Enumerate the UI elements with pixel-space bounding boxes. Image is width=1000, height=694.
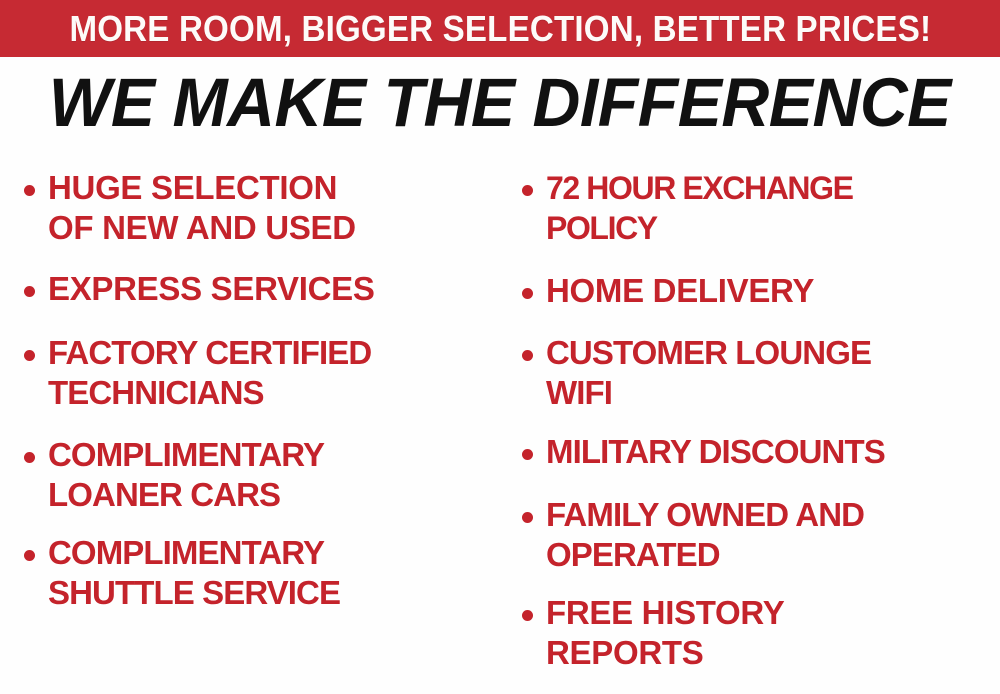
list-item-label: COMPLIMENTARY SHUTTLE SERVICE — [48, 533, 340, 613]
list-item-label: HUGE SELECTION OF NEW AND USED — [48, 168, 356, 248]
list-item-label: COMPLIMENTARY LOANER CARS — [48, 435, 324, 515]
bullet-dot-icon — [522, 610, 533, 621]
bullet-dot-icon — [522, 449, 533, 460]
list-item: EXPRESS SERVICES — [24, 269, 498, 309]
list-item-label: FREE HISTORY REPORTS — [546, 593, 784, 673]
list-item-label: FACTORY CERTIFIED TECHNICIANS — [48, 333, 371, 413]
main-headline: WE MAKE THE DIFFERENCE — [0, 68, 1000, 138]
features-columns: HUGE SELECTION OF NEW AND USED EXPRESS S… — [0, 160, 1000, 694]
list-item: FREE HISTORY REPORTS — [522, 593, 1000, 673]
list-item: 72 HOUR EXCHANGE POLICY — [522, 168, 1000, 248]
list-item: FACTORY CERTIFIED TECHNICIANS — [24, 333, 498, 413]
list-item: HOME DELIVERY — [522, 271, 1000, 311]
banner-headline-text: MORE ROOM, BIGGER SELECTION, BETTER PRIC… — [69, 11, 931, 47]
list-item: FAMILY OWNED AND OPERATED — [522, 495, 1000, 575]
list-item: HUGE SELECTION OF NEW AND USED — [24, 168, 498, 248]
list-item: COMPLIMENTARY SHUTTLE SERVICE — [24, 533, 498, 613]
list-item-label: FAMILY OWNED AND OPERATED — [546, 495, 864, 575]
list-item-label: EXPRESS SERVICES — [48, 269, 375, 309]
list-item-label: CUSTOMER LOUNGE WIFI — [546, 333, 871, 413]
bullet-dot-icon — [24, 550, 35, 561]
list-item: MILITARY DISCOUNTS — [522, 432, 1000, 472]
list-item-label: HOME DELIVERY — [546, 271, 814, 311]
list-item-label: 72 HOUR EXCHANGE POLICY — [546, 168, 853, 248]
bullet-dot-icon — [522, 288, 533, 299]
bullet-dot-icon — [24, 185, 35, 196]
list-item: COMPLIMENTARY LOANER CARS — [24, 435, 498, 515]
list-item: CUSTOMER LOUNGE WIFI — [522, 333, 1000, 413]
bullet-dot-icon — [24, 452, 35, 463]
banner-bar: MORE ROOM, BIGGER SELECTION, BETTER PRIC… — [0, 0, 1000, 57]
bullet-dot-icon — [522, 350, 533, 361]
features-column-right: 72 HOUR EXCHANGE POLICY HOME DELIVERY CU… — [500, 160, 1000, 694]
main-headline-text: WE MAKE THE DIFFERENCE — [49, 68, 951, 138]
bullet-dot-icon — [522, 512, 533, 523]
bullet-dot-icon — [522, 185, 533, 196]
bullet-dot-icon — [24, 286, 35, 297]
features-column-left: HUGE SELECTION OF NEW AND USED EXPRESS S… — [0, 160, 500, 694]
list-item-label: MILITARY DISCOUNTS — [546, 432, 885, 472]
promotional-poster: MORE ROOM, BIGGER SELECTION, BETTER PRIC… — [0, 0, 1000, 694]
bullet-dot-icon — [24, 350, 35, 361]
